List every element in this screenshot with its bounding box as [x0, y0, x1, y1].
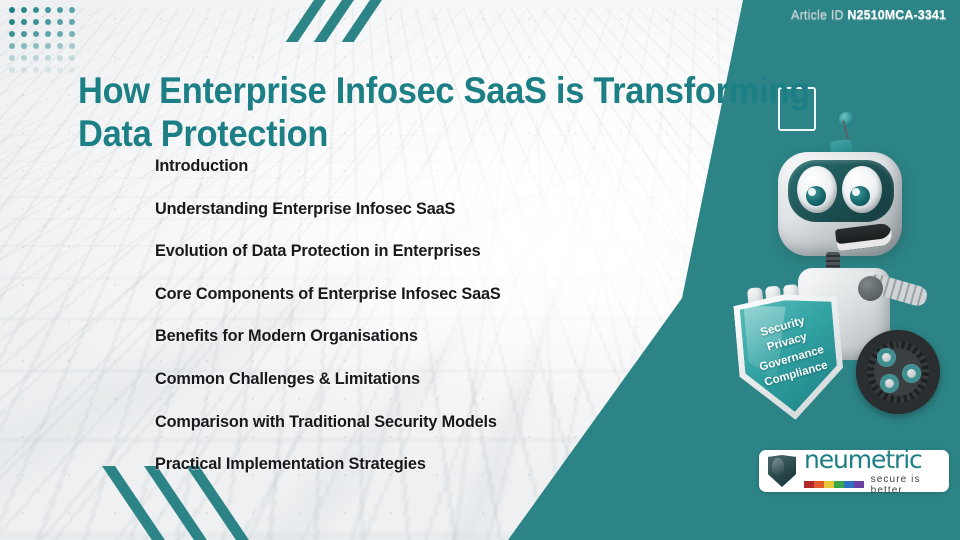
dot-grid-row — [6, 16, 78, 28]
toc-item[interactable]: Common Challenges & Limitations — [155, 370, 715, 389]
robot-mascot: SecurityPrivacyGovernanceCompliance — [726, 108, 960, 428]
dot-grid-dot — [42, 4, 54, 16]
robot-iris-right — [850, 186, 870, 206]
robot-wheel-bolt-1 — [877, 348, 896, 367]
dot-grid-dot — [66, 4, 78, 16]
logo-sub-row: secure is better — [804, 474, 940, 496]
dot-grid-dot — [30, 64, 42, 76]
robot-eye-right — [842, 166, 882, 213]
robot-wheel — [856, 330, 940, 414]
dot-grid-dot — [54, 40, 66, 52]
dot-grid-dot — [54, 64, 66, 76]
dot-grid-row — [6, 28, 78, 40]
dot-grid-row — [6, 4, 78, 16]
diagonal-stripes-top — [318, 0, 438, 38]
toc-item[interactable]: Practical Implementation Strategies — [155, 455, 715, 474]
toc-item[interactable]: Benefits for Modern Organisations — [155, 327, 715, 346]
toc-item[interactable]: Evolution of Data Protection in Enterpri… — [155, 242, 715, 261]
toc-item[interactable]: Comparison with Traditional Security Mod… — [155, 413, 715, 432]
table-of-contents: IntroductionUnderstanding Enterprise Inf… — [115, 157, 715, 498]
logo-text-block: neumetric secure is better — [804, 447, 940, 496]
article-id-value: N2510MCA-3341 — [847, 8, 946, 22]
dot-grid-dot — [66, 40, 78, 52]
toc-item[interactable]: Introduction — [155, 157, 715, 176]
dot-grid-dot — [42, 28, 54, 40]
dot-grid-dot — [6, 52, 18, 64]
dot-grid-dot — [54, 4, 66, 16]
dot-grid-row — [6, 64, 78, 76]
article-id-label: Article ID — [791, 8, 844, 22]
dot-grid-dot — [18, 4, 30, 16]
robot-wheel-hub — [874, 348, 922, 396]
dot-grid-row — [6, 40, 78, 52]
logo-tagline: secure is better — [871, 474, 940, 496]
dot-grid-dot — [6, 40, 18, 52]
dot-grid-dot — [30, 4, 42, 16]
robot-wheel-bolt-3 — [902, 364, 921, 383]
logo-bar-segment — [804, 481, 814, 488]
toc-item[interactable]: Core Components of Enterprise Infosec Sa… — [155, 285, 715, 304]
dot-grid-dot — [54, 52, 66, 64]
robot-iris-left — [806, 186, 826, 206]
article-id: Article ID N2510MCA-3341 — [791, 8, 946, 22]
dot-grid-dot — [6, 4, 18, 16]
dot-grid-dot — [18, 64, 30, 76]
logo-bar-segment — [854, 481, 864, 488]
dot-grid-dot — [42, 40, 54, 52]
robot-wheel-bolt-2 — [880, 374, 899, 393]
logo-bar-segment — [844, 481, 854, 488]
robot-shoulder — [858, 276, 883, 301]
page-title: How Enterprise Infosec SaaS is Transform… — [78, 69, 822, 156]
logo-shield-icon — [768, 455, 796, 487]
dot-grid-dot — [54, 28, 66, 40]
logo-bar-segment — [834, 481, 844, 488]
dot-grid-dot — [30, 40, 42, 52]
logo-rainbow-bar — [804, 481, 864, 488]
dot-grid-dot — [30, 16, 42, 28]
neumetric-logo[interactable]: neumetric secure is better — [759, 450, 949, 492]
dot-grid-dot — [66, 28, 78, 40]
dot-grid-dot — [54, 16, 66, 28]
logo-word-part1: neume — [804, 445, 885, 474]
logo-bar-segment — [824, 481, 834, 488]
dot-grid-dot — [42, 64, 54, 76]
dot-grid-dot — [18, 28, 30, 40]
shield-graphic: SecurityPrivacyGovernanceCompliance — [733, 290, 848, 425]
dot-grid-dot — [30, 28, 42, 40]
dot-grid-dot — [30, 52, 42, 64]
dot-grid-dot — [6, 64, 18, 76]
dot-grid-dot — [6, 16, 18, 28]
logo-word-part2: t — [885, 445, 894, 474]
dot-grid-decoration — [6, 4, 78, 76]
dot-grid-dot — [66, 64, 78, 76]
dot-grid-dot — [18, 52, 30, 64]
dot-grid-dot — [66, 16, 78, 28]
dot-grid-dot — [42, 16, 54, 28]
robot-antenna-ball-icon — [839, 112, 854, 127]
dot-grid-dot — [18, 40, 30, 52]
dot-grid-dot — [6, 28, 18, 40]
logo-wordmark: neumetric — [804, 447, 940, 472]
dot-grid-dot — [42, 52, 54, 64]
logo-bar-segment — [814, 481, 824, 488]
dot-grid-dot — [18, 16, 30, 28]
logo-word-part3: ric — [894, 445, 922, 474]
slide-root: Article ID N2510MCA-3341 How Enterprise … — [0, 0, 960, 540]
robot-eye-left — [797, 166, 837, 213]
dot-grid-row — [6, 52, 78, 64]
dot-grid-dot — [66, 52, 78, 64]
toc-item[interactable]: Understanding Enterprise Infosec SaaS — [155, 200, 715, 219]
